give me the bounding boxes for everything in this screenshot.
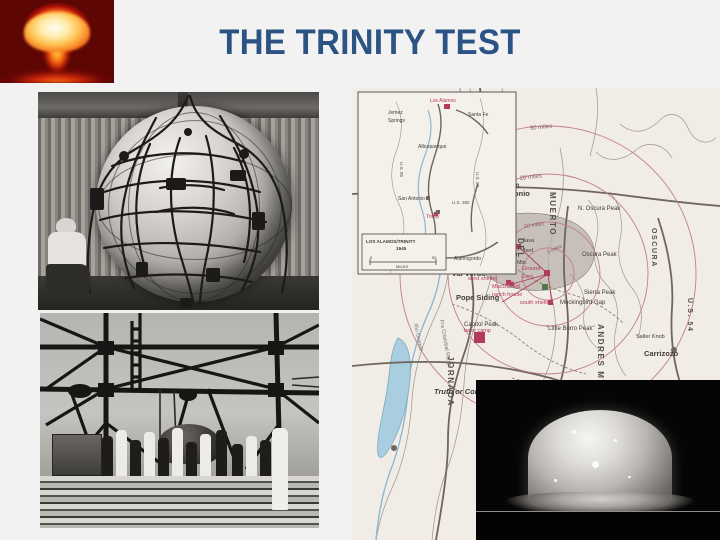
svg-text:Jemez: Jemez (388, 110, 403, 116)
svg-text:U.S. 85: U.S. 85 (399, 162, 404, 178)
svg-text:50: 50 (432, 255, 437, 260)
page-title: THE TRINITY TEST (163, 22, 577, 64)
technician-legs (46, 264, 90, 292)
svg-text:Zero: Zero (522, 274, 533, 280)
fireball-speck (592, 461, 599, 468)
svg-text:"Little Burro Peak": "Little Burro Peak" (546, 326, 595, 332)
svg-text:1945: 1945 (396, 246, 407, 251)
svg-text:San Antonio: San Antonio (398, 196, 425, 202)
fireball-foreground (476, 512, 720, 540)
mushroom-cloud-cap (24, 12, 90, 52)
svg-text:LOS ALAMOS/TRINITY: LOS ALAMOS/TRINITY (366, 239, 416, 244)
gadget-device-photo (38, 92, 319, 310)
svg-text:MUERTO: MUERTO (548, 192, 557, 236)
fireball-speck (614, 439, 617, 442)
svg-text:Ground: Ground (522, 266, 540, 272)
svg-text:Albuquerque: Albuquerque (418, 144, 447, 150)
svg-text:base camp: base camp (464, 328, 491, 334)
svg-text:Alamogordo: Alamogordo (454, 256, 481, 262)
svg-text:U.S. 54: U.S. 54 (686, 298, 693, 333)
svg-text:U.S. 54: U.S. 54 (475, 172, 480, 188)
svg-text:ranch house: ranch house (492, 292, 522, 298)
fireball-speck (572, 430, 576, 434)
svg-text:DEL: DEL (516, 238, 525, 259)
foreground-worker (272, 428, 288, 510)
svg-text:Oscura Peak: Oscura Peak (582, 252, 618, 258)
technician-body (48, 232, 86, 268)
svg-text:Carrizozo: Carrizozo (644, 349, 679, 358)
svg-text:Salter Knob: Salter Knob (636, 334, 665, 340)
mushroom-cloud-photo (0, 0, 114, 83)
fireball-speck (554, 479, 557, 482)
fireball-speck (628, 476, 631, 479)
seated-technician (46, 218, 92, 292)
svg-text:MILES: MILES (396, 264, 408, 269)
tower-assembly-photo (40, 313, 319, 528)
trinity-fireball-photo (476, 380, 720, 540)
svg-text:Santa Fe: Santa Fe (468, 112, 489, 118)
svg-text:OSCURA: OSCURA (650, 228, 657, 268)
svg-text:Sierra Peak: Sierra Peak (584, 290, 616, 296)
svg-text:MacDonald: MacDonald (492, 284, 520, 290)
svg-text:Los Alamos: Los Alamos (430, 98, 456, 104)
svg-text:U.S. 380: U.S. 380 (452, 200, 470, 205)
svg-text:Trinity: Trinity (426, 214, 440, 220)
svg-text:N. Oscura Peak: N. Oscura Peak (578, 206, 621, 212)
svg-text:Mockingbird Gap: Mockingbird Gap (560, 300, 606, 306)
svg-text:south shelter: south shelter (520, 300, 552, 306)
equipment-crate (52, 434, 102, 476)
presentation-slide: THE TRINITY TEST (0, 0, 720, 540)
svg-text:west shelter: west shelter (467, 276, 498, 282)
svg-text:Springs: Springs (388, 118, 405, 124)
